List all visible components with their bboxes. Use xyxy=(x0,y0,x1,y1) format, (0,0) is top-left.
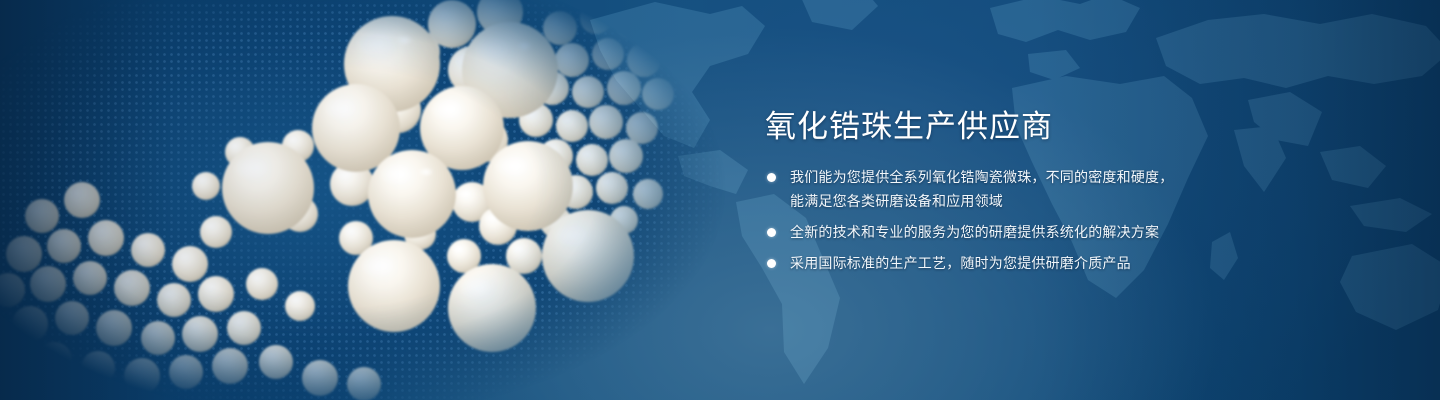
bullet-dot-icon xyxy=(767,228,776,237)
bullet-line: 我们能为您提供全系列氧化锆陶瓷微珠，不同的密度和硬度， xyxy=(790,166,1235,188)
list-item: 采用国际标准的生产工艺，随时为您提供研磨介质产品 xyxy=(765,252,1235,274)
feature-bullet-list: 我们能为您提供全系列氧化锆陶瓷微珠，不同的密度和硬度， 能满足您各类研磨设备和应… xyxy=(765,166,1235,274)
list-item: 我们能为您提供全系列氧化锆陶瓷微珠，不同的密度和硬度， 能满足您各类研磨设备和应… xyxy=(765,166,1235,212)
bullet-line: 能满足您各类研磨设备和应用领域 xyxy=(790,190,1235,212)
page-title: 氧化锆珠生产供应商 xyxy=(765,108,1235,146)
banner-copy: 氧化锆珠生产供应商 我们能为您提供全系列氧化锆陶瓷微珠，不同的密度和硬度， 能满… xyxy=(765,108,1235,274)
bullet-dot-icon xyxy=(767,259,776,268)
bullet-dot-icon xyxy=(767,173,776,182)
bullet-line: 采用国际标准的生产工艺，随时为您提供研磨介质产品 xyxy=(790,252,1235,274)
list-item: 全新的技术和专业的服务为您的研磨提供系统化的解决方案 xyxy=(765,221,1235,243)
hero-banner: 氧化锆珠生产供应商 我们能为您提供全系列氧化锆陶瓷微珠，不同的密度和硬度， 能满… xyxy=(0,0,1440,400)
bullet-line: 全新的技术和专业的服务为您的研磨提供系统化的解决方案 xyxy=(790,221,1235,243)
